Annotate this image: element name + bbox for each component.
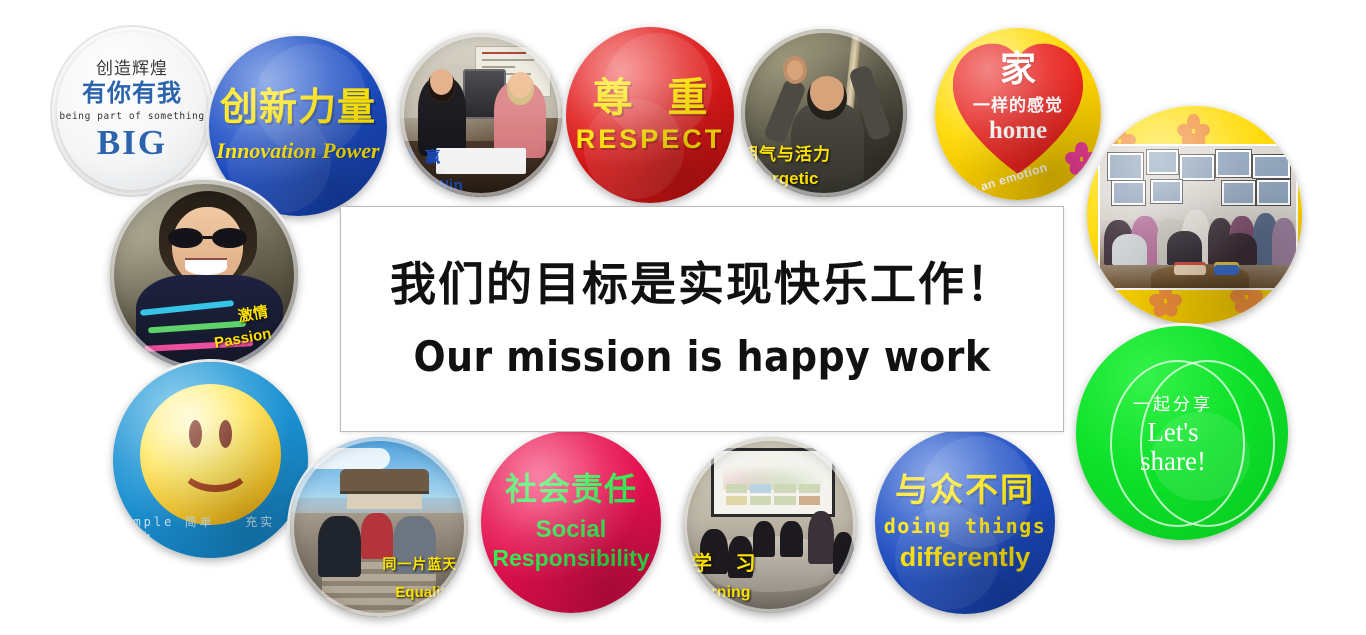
badge-home-line2: 一样的感觉 [973, 91, 1063, 116]
badge-share-chinese: 一起分享 [1133, 390, 1213, 415]
badge-social-english-line1: Social [536, 516, 607, 544]
badge-differently-english-line2: differently [900, 542, 1031, 573]
badge-big-line3: being part of something [59, 109, 204, 124]
badge-home-line3: home [989, 117, 1047, 145]
badge-learning-english: Learning [683, 584, 857, 602]
badge-big-line4: BIG [97, 124, 167, 163]
badge-equality[interactable]: 同一片蓝天 Equality [290, 437, 468, 617]
mission-chinese: 我们的目标是实现快乐工作！ [390, 257, 1014, 312]
badge-team-group-photo[interactable] [1087, 106, 1302, 324]
badge-innovation-english: Innovation Power [216, 138, 379, 164]
values-collage-canvas: 创造辉煌 有你有我 being part of something BIG 创新… [0, 0, 1366, 635]
badge-lets-share[interactable]: 一起分享 Let's share! [1076, 326, 1288, 540]
badge-passion[interactable]: 激情 Passion [110, 180, 298, 370]
badge-energetic-chinese: 朝气与活力 [741, 140, 907, 165]
badge-energetic[interactable]: 朝气与活力 Energetic [741, 29, 907, 197]
badge-big-line2: 有你有我 [82, 79, 182, 109]
smiley-face-icon [140, 384, 280, 525]
badge-share-english-line2: share! [1140, 446, 1206, 477]
badge-social-responsibility[interactable]: 社会责任 Social Responsibility [481, 431, 661, 613]
badge-home-line1: 家 [1000, 51, 1036, 87]
badge-differently-english-line1: doing things [884, 514, 1047, 538]
badge-social-english-line2: Responsibility [492, 545, 649, 572]
badge-smiley-arc-text: Simple 简单 · 充实 Rich [113, 513, 308, 544]
badge-equality-english: Equality [395, 584, 453, 601]
badge-respect[interactable]: 尊 重 RESPECT [566, 27, 734, 203]
badge-being-part-of-something-big[interactable]: 创造辉煌 有你有我 being part of something BIG [57, 32, 207, 190]
badge-respect-english: RESPECT [576, 124, 725, 155]
badge-innovation-chinese: 创新力量 [220, 88, 376, 130]
flower-icon [1067, 142, 1097, 172]
mission-english: Our mission is happy work [413, 332, 990, 381]
badge-differently-chinese: 与众不同 [895, 471, 1035, 509]
badge-winwin-chinese: 共 赢 [400, 146, 562, 167]
badge-win-win[interactable]: 共 赢 Win-Win [400, 33, 562, 197]
badge-equality-chinese: 同一片蓝天 [382, 554, 457, 574]
handshake-photo [400, 33, 562, 197]
mission-banner: 我们的目标是实现快乐工作！ Our mission is happy work [340, 206, 1064, 432]
flower-icon [1179, 114, 1209, 144]
badge-home-is-an-emotion[interactable]: 家 一样的感觉 home is an emotion [935, 28, 1101, 200]
badge-learning[interactable]: 学 习 Learning [683, 437, 857, 613]
badge-winwin-english: Win-Win [400, 177, 562, 194]
badge-energetic-english: Energetic [741, 169, 907, 189]
badge-big-line1: 创造辉煌 [96, 60, 168, 79]
badge-respect-chinese: 尊 重 [580, 76, 719, 120]
badge-simple-rich-smiley[interactable]: Simple 简单 · 充实 Rich [113, 362, 308, 558]
badge-social-chinese: 社会责任 [505, 472, 637, 507]
badge-doing-things-differently[interactable]: 与众不同 doing things differently [875, 430, 1055, 614]
badge-share-english-line1: Let's [1147, 417, 1198, 448]
badge-learning-chinese: 学 习 [683, 547, 857, 576]
team-photo [1098, 144, 1298, 290]
